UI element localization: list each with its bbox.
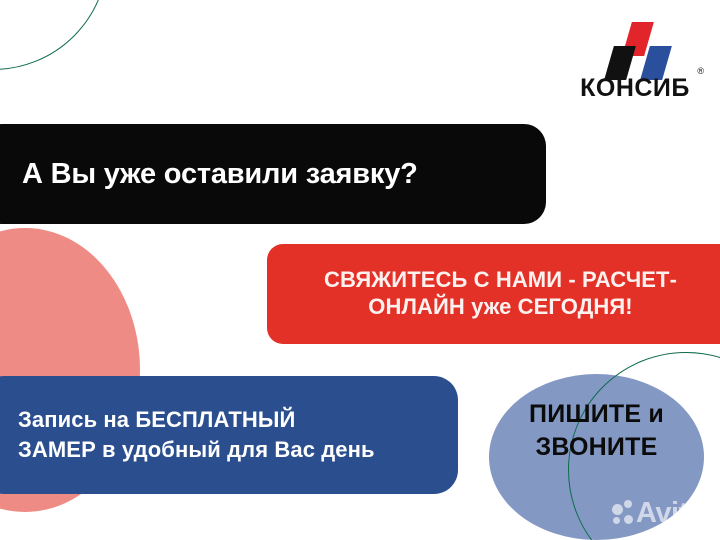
cta-red-line-1: СВЯЖИТЕСЬ С НАМИ - РАСЧЕТ-	[324, 267, 677, 294]
logo-mark-group: ®	[565, 22, 705, 72]
headline-text: А Вы уже оставили заявку?	[22, 158, 526, 191]
offer-blue-line-2: ЗАМЕР в удобный для Вас день	[18, 435, 440, 465]
brand-wordmark: КОНСИБ	[565, 74, 705, 103]
watermark-label: Avito	[636, 497, 705, 530]
decorative-circle-outline-top-left	[0, 0, 108, 70]
offer-block-blue: Запись на БЕСПЛАТНЫЙ ЗАМЕР в удобный для…	[0, 376, 458, 494]
headline-banner-black: А Вы уже оставили заявку?	[0, 124, 546, 224]
watermark-dot-icon	[613, 517, 620, 524]
brand-logo: ® КОНСИБ	[565, 22, 705, 102]
cta-block-red: СВЯЖИТЕСЬ С НАМИ - РАСЧЕТ- ОНЛАЙН уже СЕ…	[267, 244, 720, 344]
promotional-banner: ® КОНСИБ А Вы уже оставили заявку? СВЯЖИ…	[0, 0, 720, 540]
avito-watermark: Avito	[612, 500, 716, 532]
callout-line-2: ЗВОНИТЕ	[489, 431, 704, 464]
watermark-dot-icon	[624, 515, 633, 524]
offer-blue-line-1: Запись на БЕСПЛАТНЫЙ	[18, 405, 440, 435]
callout-line-1: ПИШИТЕ и	[489, 398, 704, 431]
cta-red-line-2: ОНЛАЙН уже СЕГОДНЯ!	[368, 294, 632, 321]
callout-contact-text: ПИШИТЕ и ЗВОНИТЕ	[489, 398, 704, 463]
watermark-dot-icon	[612, 504, 623, 515]
watermark-dot-icon	[624, 500, 632, 508]
